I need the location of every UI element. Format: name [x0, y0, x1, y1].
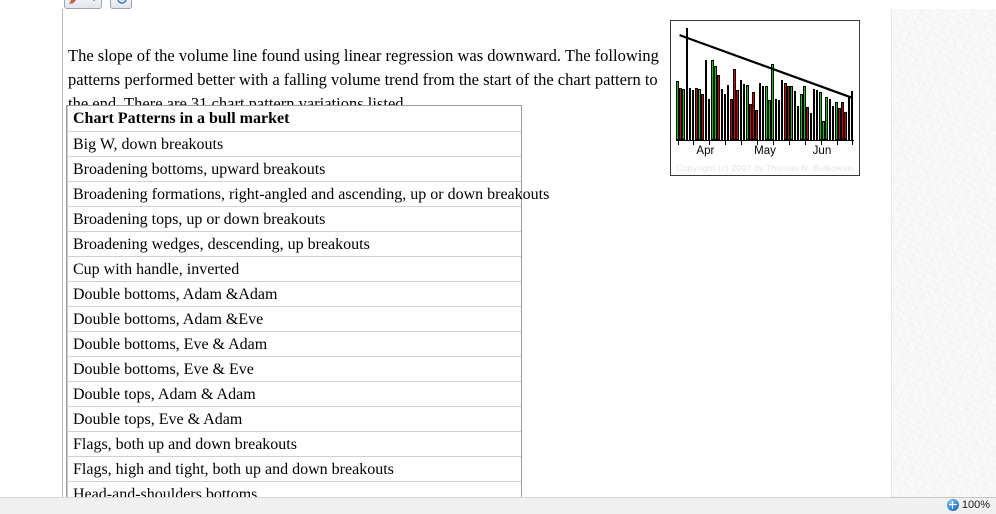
pattern-name: Broadening tops, up or down breakouts — [73, 210, 325, 229]
chart-patterns-table: Chart Patterns in a bull market Big W, d… — [66, 105, 522, 508]
pattern-name: Broadening bottoms, upward breakouts — [73, 160, 325, 179]
page-right-edge-rule — [891, 0, 892, 497]
chart-month-labels: AprMayJun — [671, 145, 859, 161]
pattern-name: Double bottoms, Adam &Eve — [73, 310, 263, 329]
pattern-name: Double bottoms, Eve & Adam — [73, 335, 267, 354]
pattern-name: Double tops, Eve & Adam — [73, 410, 242, 429]
page-background-texture — [891, 0, 996, 497]
table-header-row: Chart Patterns in a bull market — [67, 106, 521, 132]
table-row: Double bottoms, Adam &Adam — [67, 282, 521, 307]
table-header-label: Chart Patterns in a bull market — [73, 109, 289, 128]
pattern-name: Broadening wedges, descending, up breako… — [73, 235, 370, 254]
zoom-globe-icon — [947, 499, 959, 511]
table-row: Broadening bottoms, upward breakouts — [67, 157, 521, 182]
table-row: Flags, high and tight, both up and down … — [67, 457, 521, 482]
pattern-name: Cup with handle, inverted — [73, 260, 239, 279]
pattern-name: Double tops, Adam & Adam — [73, 385, 256, 404]
pattern-name: Double bottoms, Adam &Adam — [73, 285, 277, 304]
pattern-name: Flags, both up and down breakouts — [73, 435, 297, 454]
table-row: Broadening wedges, descending, up breako… — [67, 232, 521, 257]
zoom-indicator[interactable]: 100% — [947, 499, 990, 511]
table-row: Double bottoms, Adam &Eve — [67, 307, 521, 332]
pattern-name: Broadening formations, right-angled and … — [73, 185, 549, 204]
options-toolbar-button[interactable] — [110, 0, 132, 9]
find-toolbar-button[interactable] — [64, 0, 102, 9]
table-row: Double tops, Eve & Adam — [67, 407, 521, 432]
chevron-down-icon — [91, 0, 97, 1]
chart-copyright-text: Copyright (c) 2007 by Thomas N. Bulkowsk… — [671, 163, 859, 173]
browser-status-bar: 100% — [0, 497, 996, 514]
table-row: Double tops, Adam & Adam — [67, 382, 521, 407]
table-body: Big W, down breakoutsBroadening bottoms,… — [67, 132, 521, 507]
downward-trendline — [676, 26, 854, 140]
table-row: Broadening formations, right-angled and … — [67, 182, 521, 207]
browser-toolbar — [0, 0, 996, 9]
pattern-name: Flags, high and tight, both up and down … — [73, 460, 394, 479]
pattern-name: Double bottoms, Eve & Eve — [73, 360, 254, 379]
table-row: Big W, down breakouts — [67, 132, 521, 157]
table-row: Flags, both up and down breakouts — [67, 432, 521, 457]
month-label: Apr — [696, 145, 714, 157]
page-left-margin-rule — [62, 0, 63, 497]
table-row: Double bottoms, Eve & Eve — [67, 357, 521, 382]
highlighter-icon — [68, 0, 82, 6]
month-label: May — [754, 145, 776, 157]
volume-chart-figure: AprMayJun Copyright (c) 2007 by Thomas N… — [670, 20, 860, 176]
table-row: Double bottoms, Eve & Adam — [67, 332, 521, 357]
content-bottom-divider — [0, 497, 891, 498]
table-row: Cup with handle, inverted — [67, 257, 521, 282]
month-label: Jun — [813, 145, 832, 157]
pattern-name: Big W, down breakouts — [73, 135, 223, 154]
settings-gear-icon — [115, 0, 129, 6]
zoom-level-label: 100% — [962, 499, 990, 511]
table-row: Broadening tops, up or down breakouts — [67, 207, 521, 232]
